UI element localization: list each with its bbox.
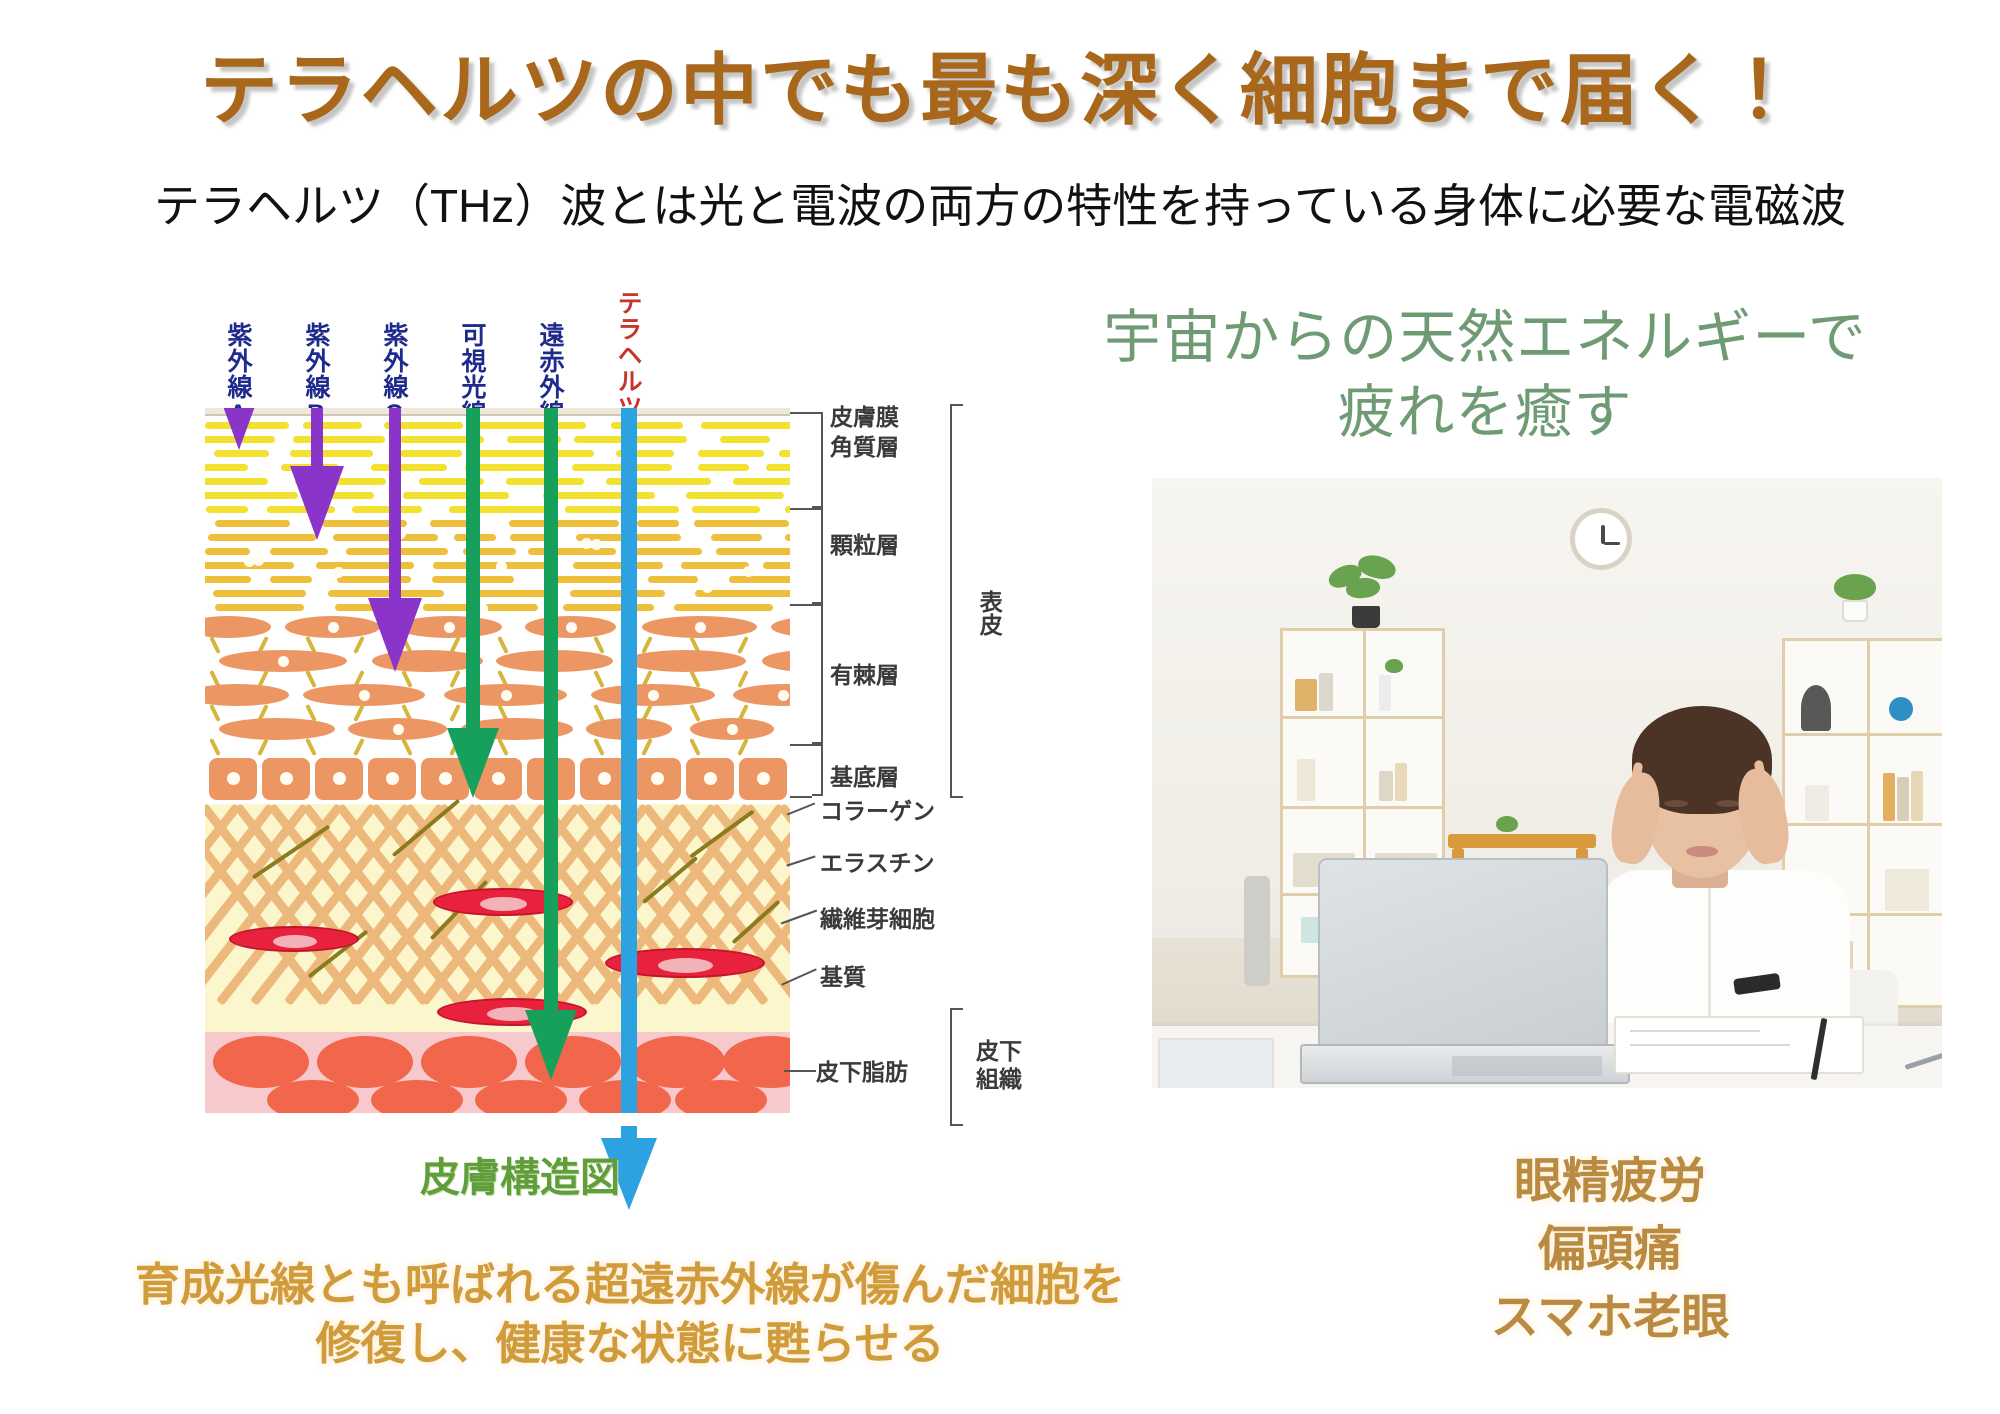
layer-label-fibroblast: 繊維芽細胞 <box>820 900 935 934</box>
cell-nucleus <box>702 582 713 593</box>
layer-label-matrix: 基質 <box>820 958 866 992</box>
fat-cell <box>213 1036 309 1088</box>
corneocyte <box>701 422 790 429</box>
corneocyte <box>733 478 790 485</box>
orange-caption-line1: 育成光線とも呼ばれる超遠赤外線が傷んだ細胞を <box>40 1255 1220 1314</box>
arrow-uvb <box>289 408 345 552</box>
basal-cell <box>209 758 257 800</box>
notebook-line-2 <box>1630 1044 1790 1046</box>
skin-structure-diagram: 紫外線A 紫外線B 紫外線C 可視光線 遠赤外線 テラヘルツ波 <box>205 300 1005 1225</box>
symptom-migraine: 偏頭痛 <box>1330 1216 1890 1284</box>
cell-nucleus <box>501 690 512 701</box>
fibroblast <box>229 926 359 952</box>
skin-cross-section <box>205 408 790 1113</box>
green-heading-line1: 宇宙からの天然エネルギーで <box>985 300 1985 375</box>
layer-label-horny: 角質層 <box>830 428 899 462</box>
layer-label-subcutaneous-fat: 皮下脂肪 <box>816 1053 908 1087</box>
cell-nucleus <box>591 539 602 550</box>
corneocyte <box>716 548 790 555</box>
cell-nucleus <box>328 622 339 633</box>
symptom-eye-strain: 眼精疲労 <box>1330 1148 1890 1216</box>
arrow-far-infrared <box>523 408 579 1082</box>
layer-label-collagen: コラーゲン <box>820 792 935 826</box>
corneocyte <box>779 450 790 457</box>
back-desk-top <box>1448 834 1596 848</box>
tired-woman-photo <box>1152 478 1942 1088</box>
basal-cell <box>315 758 363 800</box>
corneocyte <box>698 450 764 457</box>
corneocyte <box>205 548 250 555</box>
bracket-label-epidermis: 表皮 <box>976 590 1001 636</box>
person-eye-left <box>1664 800 1688 807</box>
orange-caption: 育成光線とも呼ばれる超遠赤外線が傷んだ細胞を 修復し、健康な状態に甦らせる <box>40 1255 1220 1374</box>
arrow-visible-light <box>445 408 501 800</box>
corneocyte <box>205 492 298 499</box>
fat-cell <box>421 1036 517 1088</box>
basal-cell <box>739 758 787 800</box>
back-desk-plant <box>1496 816 1518 832</box>
basal-cell <box>686 758 734 800</box>
notebook-line-1 <box>1630 1030 1760 1032</box>
basal-cell <box>262 758 310 800</box>
corneocyte <box>698 464 749 471</box>
corneocyte <box>205 576 251 583</box>
page-title: テラヘルツの中でも最も深く細胞まで届く！ <box>0 28 2000 140</box>
corneocyte <box>720 436 769 443</box>
page-subtitle: テラヘルツ（THz）波とは光と電波の両方の特性を持っている身体に必要な電磁波 <box>0 170 2000 236</box>
layer-label-elastin: エラスチン <box>820 844 935 878</box>
symptom-smartphone-presbyopia: スマホ老眼 <box>1330 1284 1890 1352</box>
symptom-list: 眼精疲労 偏頭痛 スマホ老眼 <box>1330 1148 1890 1352</box>
radiator <box>1244 876 1270 986</box>
side-notebook <box>1158 1038 1274 1088</box>
person-eye-right <box>1716 800 1740 807</box>
orange-caption-line2: 修復し、健康な状態に甦らせる <box>40 1314 1220 1373</box>
fat-cell <box>371 1080 463 1113</box>
basal-cell <box>368 758 416 800</box>
corneocyte <box>270 576 312 583</box>
arrow-uva <box>211 408 267 472</box>
layer-label-basal: 基底層 <box>830 758 899 792</box>
corneocyte <box>729 576 790 583</box>
laptop-keyboard <box>1452 1056 1602 1076</box>
cell-nucleus <box>278 656 289 667</box>
corneocyte <box>766 464 790 471</box>
layer-label-skin-film: 皮膚膜 <box>830 398 899 432</box>
cell-nucleus <box>359 690 370 701</box>
diagram-title: 皮膚構造図 <box>350 1145 690 1203</box>
corneocyte <box>763 562 790 569</box>
corneocyte <box>206 506 248 513</box>
fat-cell <box>675 1080 767 1113</box>
fat-cell <box>475 1080 567 1113</box>
fat-cell <box>317 1036 413 1088</box>
cell-nucleus <box>393 724 404 735</box>
layer-label-granular: 顆粒層 <box>830 526 899 560</box>
arrow-terahertz <box>601 408 657 1113</box>
corneocyte <box>215 604 305 611</box>
wall-clock-icon <box>1570 508 1632 570</box>
green-heading-line2: 疲れを癒す <box>985 375 1985 450</box>
corneocyte <box>674 604 773 611</box>
green-heading: 宇宙からの天然エネルギーで 疲れを癒す <box>985 300 1985 451</box>
corneocyte <box>711 534 762 541</box>
fat-cell <box>267 1080 359 1113</box>
cell-nucleus <box>695 622 706 633</box>
layer-label-spinous: 有棘層 <box>830 656 899 690</box>
corneocyte <box>692 506 760 513</box>
layer-label-group: 皮膚膜 角質層 顆粒層 有棘層 基底層 コラーゲン エラスチン 繊維芽細胞 基質… <box>790 408 1005 1128</box>
corneocyte <box>205 478 268 485</box>
corneocyte <box>215 520 291 527</box>
spinous-cell <box>219 718 335 740</box>
corneocyte <box>213 590 306 597</box>
corneocyte <box>686 492 784 499</box>
person-mouth <box>1686 846 1718 857</box>
slide-root: テラヘルツの中でも最も深く細胞まで届く！ テラヘルツ（THz）波とは光と電波の両… <box>0 0 2000 1414</box>
corneocyte <box>681 562 749 569</box>
laptop-screen <box>1318 858 1608 1048</box>
bracket-label-subcutaneous-tissue: 皮下組織 <box>976 1038 1032 1093</box>
arrow-uvc <box>367 408 423 684</box>
corneocyte <box>694 520 789 527</box>
